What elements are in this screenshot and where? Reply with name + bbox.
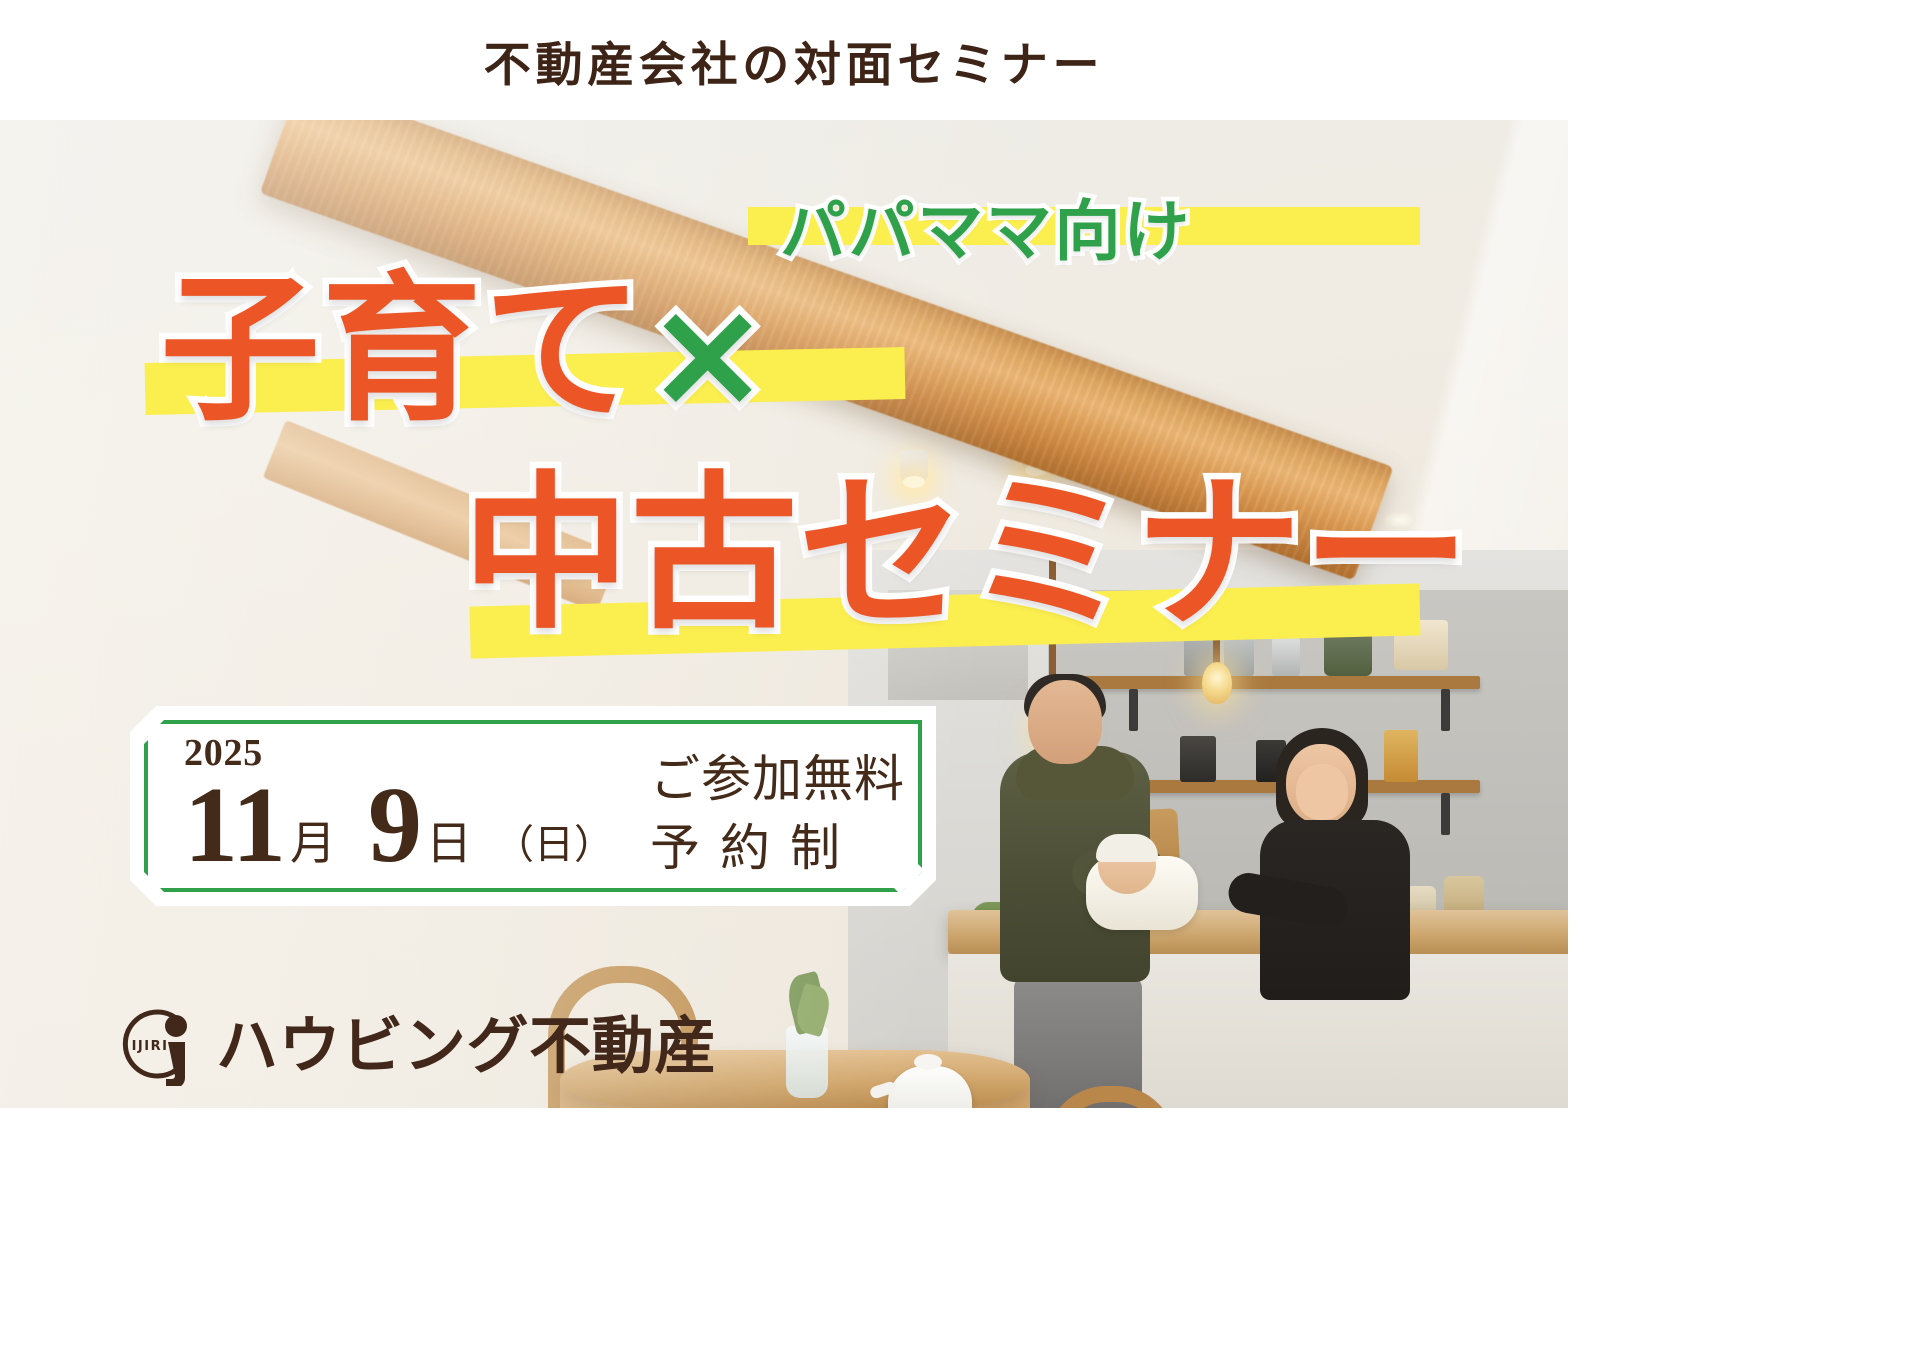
ijiri-logo-icon: IJIRI — [118, 1002, 202, 1086]
date-day-value: 9 — [368, 776, 422, 875]
date-block: 2025 11 月 9 日 （日） — [184, 734, 614, 875]
hero-title-cross-symbol: × — [645, 267, 772, 441]
hero-kicker: パパママ向け — [780, 178, 1192, 274]
date-month-unit: 月 — [286, 821, 342, 875]
participation-notes: ご参加無料 予約制 — [650, 750, 905, 878]
hero-title-line2: 中古セミナー — [462, 470, 1470, 638]
date-day-unit: 日 — [422, 821, 478, 875]
date-card: 2025 11 月 9 日 （日） ご参加無料 予約制 — [130, 706, 936, 906]
company-name: ハウビング不動産 — [216, 1015, 717, 1077]
company-logo: IJIRI ハウビング不動産 — [118, 1002, 717, 1086]
note-reservation-required: 予約制 — [650, 819, 905, 878]
photo-mother-face — [1296, 764, 1348, 820]
ijiri-logo-mark-text: IJIRI — [132, 1039, 169, 1054]
page-title: 不動産会社の対面セミナー — [484, 26, 1104, 95]
header-bar: 不動産会社の対面セミナー — [0, 0, 1568, 120]
hero-title-line1-text: 子育て — [160, 256, 645, 443]
seminar-poster: 不動産会社の対面セミナー — [0, 0, 1568, 1108]
date-line: 11 月 9 日 （日） — [184, 776, 614, 875]
ijiri-logo-mark: IJIRI — [118, 1002, 202, 1086]
note-free-admission: ご参加無料 — [650, 750, 905, 809]
date-day-of-week: （日） — [478, 825, 614, 875]
hero-title-line1: 子育て× — [160, 270, 772, 430]
date-month-value: 11 — [184, 776, 286, 875]
date-card-body: 2025 11 月 9 日 （日） ご参加無料 予約制 — [130, 706, 936, 906]
